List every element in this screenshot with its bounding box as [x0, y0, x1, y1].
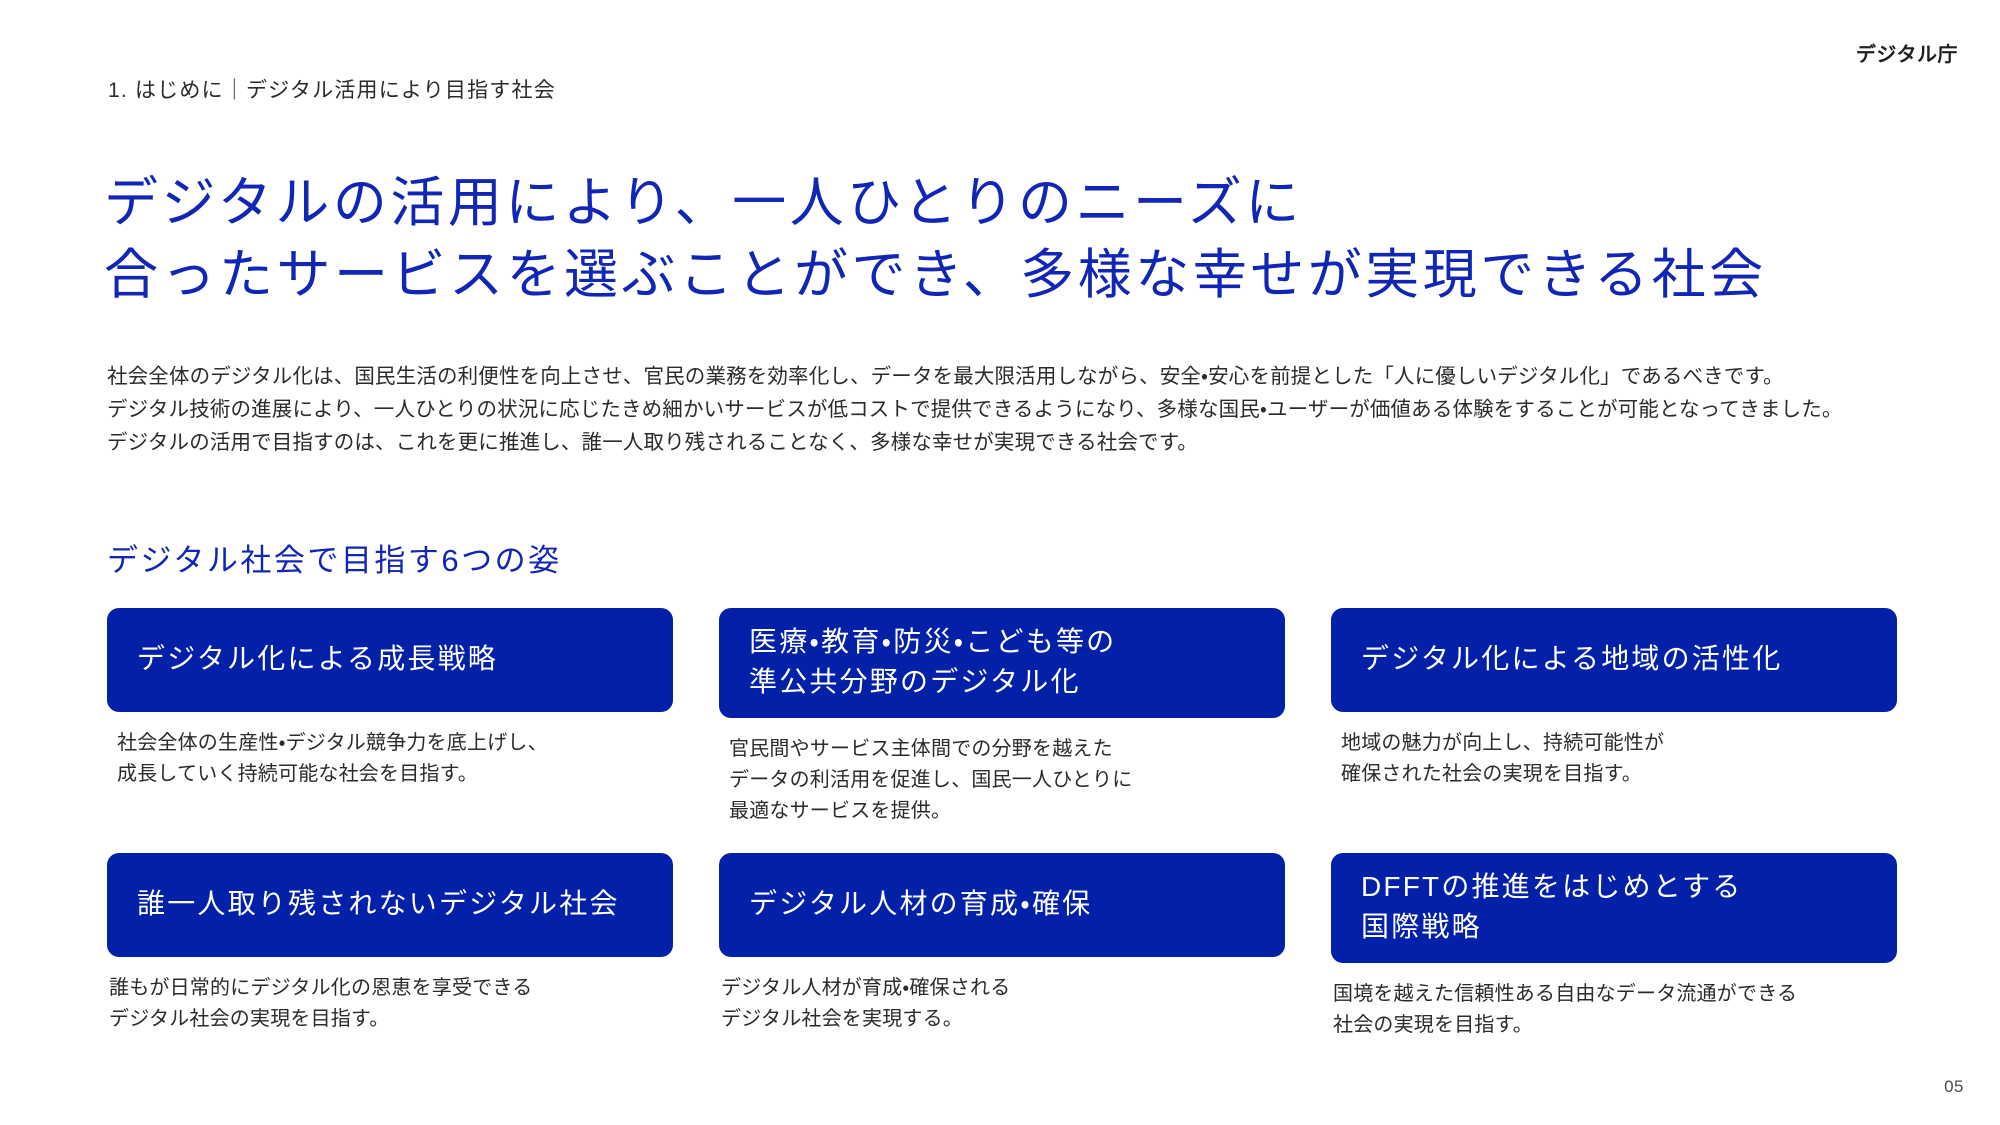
section-heading: デジタル社会で目指す6つの姿 [107, 535, 562, 580]
vision-card-6[interactable]: DFFTの推進をはじめとする 国際戦略 [1331, 853, 1897, 963]
vision-cell-4: 誰一人取り残されないデジタル社会 誰もが日常的にデジタル化の恩恵を享受できる デ… [107, 853, 673, 1041]
vision-card-4[interactable]: 誰一人取り残されないデジタル社会 [107, 853, 673, 957]
lead-paragraph: 社会全体のデジタル化は、国民生活の利便性を向上させ、官民の業務を効率化し、データ… [107, 360, 1960, 460]
vision-card-title: DFFTの推進をはじめとする 国際戦略 [1361, 867, 1743, 947]
vision-cell-3: デジタル化による地域の活性化 地域の魅力が向上し、持続可能性が 確保された社会の… [1331, 608, 1897, 827]
vision-card-description: 国境を越えた信頼性ある自由なデータ流通ができる 社会の実現を目指す。 [1331, 979, 1897, 1041]
six-visions-grid: デジタル化による成長戦略 社会全体の生産性・デジタル競争力を底上げし、 成長して… [107, 608, 1897, 1041]
lead-line-2: デジタル技術の進展により、一人ひとりの状況に応じたきめ細かいサービスが低コストで… [107, 393, 1960, 426]
breadcrumb: 1. はじめに｜デジタル活用により目指す社会 [108, 74, 556, 104]
vision-card-2[interactable]: 医療・教育・防災・こども等の 準公共分野のデジタル化 [719, 608, 1285, 718]
lead-line-3: デジタルの活用で目指すのは、これを更に推進し、誰一人取り残されることなく、多様な… [107, 426, 1960, 459]
vision-card-description: 官民間やサービス主体間での分野を越えた データの利活用を促進し、国民一人ひとりに… [719, 734, 1285, 828]
lead-line-1: 社会全体のデジタル化は、国民生活の利便性を向上させ、官民の業務を効率化し、データ… [107, 360, 1960, 393]
headline-line-2: 合ったサービスを選ぶことができ、多様な幸せが実現できる社会 [104, 240, 1767, 312]
vision-card-title: 医療・教育・防災・こども等の 準公共分野のデジタル化 [749, 622, 1116, 702]
vision-card-1[interactable]: デジタル化による成長戦略 [107, 608, 673, 712]
vision-card-title: デジタル化による地域の活性化 [1361, 639, 1782, 679]
vision-card-title: デジタル人材の育成・確保 [749, 884, 1092, 924]
agency-logo: デジタル庁 [1856, 38, 1958, 67]
vision-card-title: 誰一人取り残されないデジタル社会 [137, 884, 620, 924]
vision-card-3[interactable]: デジタル化による地域の活性化 [1331, 608, 1897, 712]
page-title: デジタルの活用により、一人ひとりのニーズに 合ったサービスを選ぶことができ、多様… [104, 168, 1767, 312]
vision-card-description: デジタル人材が育成・確保される デジタル社会を実現する。 [719, 973, 1285, 1035]
page-number: 05 [1944, 1077, 1964, 1097]
vision-card-description: 地域の魅力が向上し、持続可能性が 確保された社会の実現を目指す。 [1331, 728, 1897, 790]
vision-card-description: 社会全体の生産性・デジタル競争力を底上げし、 成長していく持続可能な社会を目指す… [107, 728, 673, 790]
vision-card-description: 誰もが日常的にデジタル化の恩恵を享受できる デジタル社会の実現を目指す。 [107, 973, 673, 1035]
vision-cell-6: DFFTの推進をはじめとする 国際戦略 国境を越えた信頼性ある自由なデータ流通が… [1331, 853, 1897, 1041]
vision-cell-2: 医療・教育・防災・こども等の 準公共分野のデジタル化 官民間やサービス主体間での… [719, 608, 1285, 827]
slide: デジタル庁 1. はじめに｜デジタル活用により目指す社会 デジタルの活用により、… [0, 0, 2000, 1125]
headline-line-1: デジタルの活用により、一人ひとりのニーズに [104, 168, 1767, 240]
vision-cell-1: デジタル化による成長戦略 社会全体の生産性・デジタル競争力を底上げし、 成長して… [107, 608, 673, 827]
vision-card-title: デジタル化による成長戦略 [137, 639, 498, 679]
vision-card-5[interactable]: デジタル人材の育成・確保 [719, 853, 1285, 957]
vision-cell-5: デジタル人材の育成・確保 デジタル人材が育成・確保される デジタル社会を実現する… [719, 853, 1285, 1041]
